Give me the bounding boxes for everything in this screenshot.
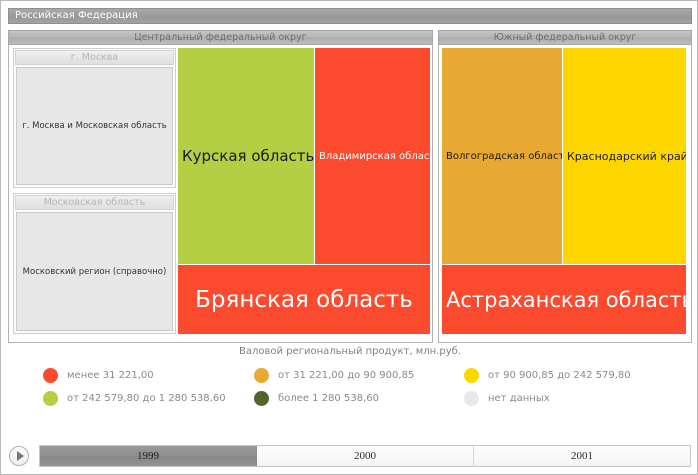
legend-label: менее 31 221,00: [67, 370, 154, 381]
root-node-header[interactable]: Российская Федерация: [8, 8, 692, 24]
timeline-year-2001[interactable]: 2001: [474, 446, 690, 466]
legend-item[interactable]: от 31 221,00 до 90 900,85: [254, 364, 414, 386]
tile-label: Брянская область: [191, 287, 417, 313]
legend-row-2: от 242 579,80 до 1 280 538,60более 1 280…: [9, 387, 691, 409]
legend-label: от 242 579,80 до 1 280 538,60: [67, 393, 226, 404]
treemap-app: Российская Федерация Центральный федерал…: [0, 0, 698, 475]
legend-item[interactable]: от 242 579,80 до 1 280 538,60: [43, 387, 226, 409]
subgroup-header-moscow-city[interactable]: г. Москва: [15, 50, 174, 65]
subgroup-moscow-oblast: Московская областьМосковский регион (спр…: [13, 193, 176, 334]
treemap-tile-astrahanskaya[interactable]: Астраханская область: [442, 265, 686, 334]
timeline-year-1999[interactable]: 1999: [40, 446, 257, 466]
treemap-tile-moscow-city[interactable]: г. Москва и Московская область: [16, 67, 173, 185]
play-button[interactable]: [9, 446, 29, 466]
legend-item[interactable]: от 90 900,85 до 242 579,80: [464, 364, 631, 386]
district-header-south[interactable]: Южный федеральный округ: [438, 30, 692, 45]
legend-swatch-icon: [254, 368, 269, 383]
legend-label: нет данных: [488, 393, 550, 404]
legend-swatch-icon: [464, 391, 479, 406]
legend-item[interactable]: более 1 280 538,60: [254, 387, 379, 409]
timeline: 199920002001: [9, 444, 691, 469]
district-header-central[interactable]: Центральный федеральный округ: [8, 30, 433, 45]
play-icon: [17, 451, 24, 461]
legend-label: более 1 280 538,60: [278, 393, 379, 404]
legend-item[interactable]: менее 31 221,00: [43, 364, 154, 386]
timeline-track[interactable]: 199920002001: [39, 445, 691, 467]
legend-swatch-icon: [43, 368, 58, 383]
tile-label: Волгоградская область: [442, 151, 562, 162]
legend-title: Валовой региональный продукт, млн.руб.: [9, 346, 691, 357]
legend-item[interactable]: нет данных: [464, 387, 550, 409]
legend-swatch-icon: [43, 391, 58, 406]
treemap-tile-moscow-oblast[interactable]: Московский регион (справочно): [16, 212, 173, 331]
legend-label: от 90 900,85 до 242 579,80: [488, 370, 631, 381]
tile-label: Астраханская область: [442, 288, 686, 312]
tile-label: Владимирская область: [315, 151, 430, 162]
treemap-tile-kurskaya[interactable]: Курская область: [178, 48, 314, 264]
tile-label: Краснодарский край: [563, 150, 686, 163]
tile-label: Московский регион (справочно): [19, 267, 171, 277]
treemap-tile-volgogradskaya[interactable]: Волгоградская область: [442, 48, 562, 264]
subgroup-header-moscow-oblast[interactable]: Московская область: [15, 195, 174, 210]
district-body-central: г. Москваг. Москва и Московская областьМ…: [8, 45, 433, 343]
treemap-tile-bryanskaya[interactable]: Брянская область: [178, 265, 430, 334]
timeline-year-2000[interactable]: 2000: [257, 446, 474, 466]
district-body-south: Волгоградская областьКраснодарский крайА…: [438, 45, 692, 343]
treemap-tile-vladimirskaya[interactable]: Владимирская область: [315, 48, 430, 264]
tile-label: Курская область: [178, 147, 314, 165]
legend-swatch-icon: [254, 391, 269, 406]
legend-label: от 31 221,00 до 90 900,85: [278, 370, 414, 381]
subgroup-moscow-city: г. Москваг. Москва и Московская область: [13, 48, 176, 188]
tile-label: г. Москва и Московская область: [18, 121, 170, 131]
legend: Валовой региональный продукт, млн.руб. м…: [9, 346, 691, 421]
district-group-south: Южный федеральный округВолгоградская обл…: [438, 30, 692, 343]
treemap-tile-krasnodarskiy[interactable]: Краснодарский край: [563, 48, 686, 264]
legend-row-1: менее 31 221,00от 31 221,00 до 90 900,85…: [9, 364, 691, 386]
district-group-central: Центральный федеральный округг. Москваг.…: [8, 30, 433, 343]
legend-swatch-icon: [464, 368, 479, 383]
